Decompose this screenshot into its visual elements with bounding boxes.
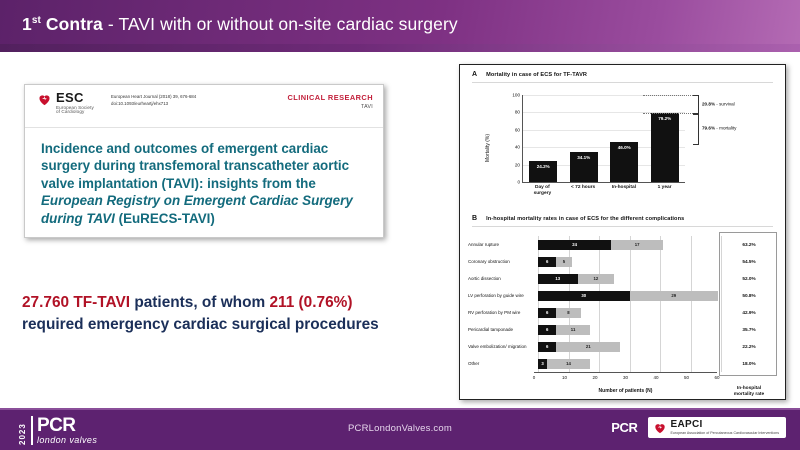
chart-b-segment-mortality: 30: [538, 291, 630, 301]
chart-b-category-label: Valve embolization/ migration: [468, 344, 538, 349]
chart-b-x-tick: 0: [533, 375, 536, 380]
chart-b-stacked-bar: 3029: [538, 291, 721, 301]
panel-b-divider: [472, 226, 773, 227]
chart-b-segment-survival: 8: [556, 308, 580, 318]
chart-a-category-label: In-hospital: [610, 185, 638, 207]
title-rest: - TAVI with or without on-site cardiac s…: [103, 14, 458, 34]
stat-patient-count: 27.760: [22, 294, 69, 311]
chart-b-gridline: [721, 236, 722, 253]
chart-b-segment-mortality: 6: [538, 308, 556, 318]
esc-society-name: European Society of Cardiology: [56, 106, 94, 116]
chart-b-segment-mortality: 6: [538, 257, 556, 267]
journal-card-header: ESC European Society of Cardiology Europ…: [25, 85, 383, 128]
stat-second-line: required emergency cardiac surgical proc…: [22, 316, 379, 333]
chart-a-bar-group: 34.1%: [570, 95, 598, 182]
chart-b-mortality-rate: 54.5%: [721, 259, 777, 264]
panel-b-header: B In-hospital mortality rates in case of…: [460, 207, 785, 222]
chart-b-x-tick: 50: [684, 375, 689, 380]
chart-b-gridline: [721, 253, 722, 270]
chart-b-bar-track: 3029: [538, 287, 721, 304]
article-title: Incidence and outcomes of emergent cardi…: [25, 128, 383, 227]
chart-a-bars: 24.2%34.1%46.0%79.2%: [523, 95, 685, 182]
esc-logo: ESC European Society of Cardiology: [37, 91, 94, 115]
chart-b-stacked-bar: 611: [538, 325, 721, 335]
title-ordinal-suffix: st: [32, 15, 41, 26]
section-sublabel-text: TAVI: [287, 104, 373, 110]
chart-b-category-label: Annular rupture: [468, 242, 538, 247]
chart-b-segment-value: 6: [546, 327, 548, 332]
title-keyword: Contra: [46, 14, 103, 34]
chart-b-rate-column-header: In-hospitalmortality rate: [721, 386, 777, 398]
chart-a-bar-value: 24.2%: [529, 164, 557, 169]
chart-b-category-label: Pericardial tamponade: [468, 327, 538, 332]
header-accent-band: [0, 44, 800, 52]
chart-b-x-tick: 10: [562, 375, 567, 380]
chart-b-segment-value: 24: [572, 242, 577, 247]
chart-b-segment-mortality: 6: [538, 342, 556, 352]
chart-b-row: Aortic dissection131252.0%: [468, 270, 777, 287]
chart-a-bar: 24.2%: [529, 161, 557, 182]
chart-b-rate-header-line: mortality rate: [721, 392, 777, 398]
pcr-logo-small: PCR: [611, 420, 637, 435]
chart-b-bar-track: 611: [538, 321, 721, 338]
key-statistic: 27.760 TF-TAVI patients, of whom 211 (0.…: [22, 292, 442, 336]
chart-b-segment-survival: 14: [547, 359, 590, 369]
chart-b-stacked-bar: 314: [538, 359, 721, 369]
logo-london-valves-text: london valves: [37, 436, 97, 445]
chart-b-row: Annular rupture241763.2%: [468, 236, 777, 253]
chart-a-y-tick: 40: [515, 145, 520, 150]
chart-b-segment-mortality: 13: [538, 274, 578, 284]
chart-a-x-axis-labels: Day of surgery< 72 hoursIn-hospital1 yea…: [522, 185, 685, 207]
chart-b-segment-survival: 29: [630, 291, 718, 301]
journal-section-label: CLINICAL RESEARCH TAVI: [287, 93, 373, 110]
slide: 1st Contra - TAVI with or without on-sit…: [0, 0, 800, 450]
chart-b-bar-track: 65: [538, 253, 721, 270]
chart-b-stacked-bar: 621: [538, 342, 721, 352]
chart-a-bracket: [693, 113, 699, 144]
chart-a-annotation-text: 79.6% - mortality: [702, 125, 736, 130]
section-label-text: CLINICAL RESEARCH: [287, 93, 373, 102]
article-title-part-0: Incidence and outcomes of emergent cardi…: [41, 141, 349, 191]
chart-b-row: Pericardial tamponade61135.7%: [468, 321, 777, 338]
chart-b-row: Valve embolization/ migration62122.2%: [468, 338, 777, 355]
esc-wordmark: ESC European Society of Cardiology: [56, 91, 94, 115]
chart-b-segment-survival: 21: [556, 342, 620, 352]
stat-cohort-label: TF-TAVI: [69, 294, 130, 311]
chart-b-segment-value: 30: [581, 293, 586, 298]
chart-b-x-axis-label: Number of patients (N): [534, 388, 717, 394]
chart-a-y-tick: 20: [515, 162, 520, 167]
chart-b-segment-mortality: 24: [538, 240, 611, 250]
chart-b-gridline: [721, 304, 722, 321]
chart-b-segment-value: 6: [546, 310, 548, 315]
eapci-logo: EAPCI European Association of Percutaneo…: [648, 417, 786, 438]
chart-a-y-axis-label: Mortality (%): [485, 134, 491, 162]
chart-b-gridline: [721, 338, 722, 355]
chart-b-segment-mortality: 3: [538, 359, 547, 369]
chart-b-axis: 0102030405060: [468, 372, 777, 386]
panel-a-header: A Mortality in case of ECS for TF-TAVR: [460, 65, 785, 78]
chart-a-bar-value: 79.2%: [651, 116, 679, 121]
chart-b-stacked-bar: 65: [538, 257, 721, 267]
chart-b-bar-track: 2417: [538, 236, 721, 253]
chart-a-leader-line: [643, 113, 693, 114]
chart-b-category-label: RV perforation by PM wire: [468, 310, 538, 315]
chart-a-y-tick: 80: [515, 110, 520, 115]
chart-b-segment-survival: 12: [578, 274, 615, 284]
citation-line-1: European Heart Journal (2018) 39, 676-68…: [111, 94, 196, 101]
chart-b-stacked-bar: 2417: [538, 240, 721, 250]
figure-panel: A Mortality in case of ECS for TF-TAVR M…: [459, 64, 786, 400]
chart-a-leader-line: [643, 95, 693, 96]
chart-a-annotations: 20.8% - survival79.6% - mortality: [683, 95, 775, 183]
chart-a-bar-group: 46.0%: [610, 95, 638, 182]
stat-event-percent: (0.76%): [294, 294, 352, 311]
chart-b-row: RV perforation by PM wire6842.9%: [468, 304, 777, 321]
chart-b-category-label: Coronary obstruction: [468, 259, 538, 264]
chart-b-row: LV perforation by guide wire302950.8%: [468, 287, 777, 304]
panel-a-caption: Mortality in case of ECS for TF-TAVR: [486, 72, 587, 78]
chart-a-category-label: < 72 hours: [569, 185, 597, 207]
chart-a-bar-value: 34.1%: [570, 155, 598, 160]
eapci-full-name: European Association of Percutaneous Car…: [671, 432, 779, 436]
journal-citation: European Heart Journal (2018) 39, 676-68…: [111, 94, 196, 107]
chart-b-mortality-rate: 42.9%: [721, 310, 777, 315]
title-ordinal: 1: [22, 14, 32, 34]
chart-panel-b: Annular rupture241763.2%Coronary obstruc…: [468, 232, 777, 390]
chart-b-stacked-bar: 1312: [538, 274, 721, 284]
chart-b-segment-value: 13: [555, 276, 560, 281]
chart-b-segment-value: 6: [546, 344, 548, 349]
chart-b-segment-value: 3: [541, 361, 543, 366]
stat-mid-text: patients, of whom: [130, 294, 269, 311]
chart-b-bar-track: 621: [538, 338, 721, 355]
chart-b-row: Other31418.0%: [468, 355, 777, 372]
chart-b-stacked-bar: 68: [538, 308, 721, 318]
chart-b-segment-value: 21: [586, 344, 591, 349]
chart-b-x-tick: 40: [653, 375, 658, 380]
chart-a-bar-group: 79.2%: [651, 95, 679, 182]
chart-b-segment-survival: 17: [611, 240, 663, 250]
journal-article-card: ESC European Society of Cardiology Europ…: [24, 84, 384, 238]
chart-b-x-tick: 30: [623, 375, 628, 380]
chart-b-segment-survival: 11: [556, 325, 590, 335]
chart-b-segment-value: 17: [635, 242, 640, 247]
chart-b-segment-survival: 5: [556, 257, 571, 267]
chart-b-category-label: LV perforation by guide wire: [468, 293, 538, 298]
esc-acronym: ESC: [56, 91, 94, 105]
chart-b-category-label: Other: [468, 361, 538, 366]
eapci-wordmark: EAPCI European Association of Percutaneo…: [671, 420, 779, 435]
panel-b-letter: B: [472, 215, 477, 222]
panel-b-caption: In-hospital mortality rates in case of E…: [486, 216, 684, 222]
chart-b-bar-track: 68: [538, 304, 721, 321]
chart-a-annotation-text: 20.8% - survival: [702, 102, 735, 107]
chart-b-segment-mortality: 6: [538, 325, 556, 335]
chart-b-rows: Annular rupture241763.2%Coronary obstruc…: [468, 236, 777, 372]
heart-icon: [653, 421, 667, 435]
chart-b-segment-value: 14: [566, 361, 571, 366]
slide-header: 1st Contra - TAVI with or without on-sit…: [0, 0, 800, 52]
chart-a-bracket: [693, 95, 699, 115]
chart-a-bar-group: 24.2%: [529, 95, 557, 182]
article-title-part-2: (EuRECS-TAVI): [115, 211, 215, 226]
eapci-acronym: EAPCI: [671, 420, 779, 431]
chart-a-y-tick: 0: [517, 180, 520, 185]
chart-b-bar-track: 1312: [538, 270, 721, 287]
chart-b-x-tick: 20: [592, 375, 597, 380]
footer-sponsor-logos: PCR EAPCI European Association of Percut…: [611, 417, 786, 438]
chart-b-mortality-rate: 52.0%: [721, 276, 777, 281]
chart-a-category-label: Day of surgery: [529, 185, 557, 207]
chart-b-gridline: [721, 287, 722, 304]
chart-b-mortality-rate: 35.7%: [721, 327, 777, 332]
chart-b-gridline: [721, 321, 722, 338]
heart-icon: [37, 92, 52, 107]
chart-b-mortality-rate: 18.0%: [721, 361, 777, 366]
chart-a-bar: 79.2%: [651, 113, 679, 182]
chart-b-gridline: [721, 270, 722, 287]
chart-b-segment-value: 5: [563, 259, 565, 264]
chart-a-bar: 34.1%: [570, 152, 598, 182]
page-title: 1st Contra - TAVI with or without on-sit…: [22, 14, 458, 35]
footer-accent-line: [0, 408, 800, 410]
panel-a-letter: A: [472, 71, 477, 78]
chart-b-segment-value: 8: [567, 310, 569, 315]
esc-society-line2: of Cardiology: [56, 110, 94, 115]
citation-line-2: doi:10.1093/eurheartj/ehx713: [111, 101, 196, 108]
chart-b-mortality-rate: 50.8%: [721, 293, 777, 298]
chart-a-y-tick: 100: [512, 93, 520, 98]
chart-a-category-label: 1 year: [651, 185, 679, 207]
chart-b-segment-value: 12: [594, 276, 599, 281]
chart-b-bar-track: 314: [538, 355, 721, 372]
slide-footer: 2023 PCR london valves PCRLondonValves.c…: [0, 408, 800, 450]
chart-b-category-label: Aortic dissection: [468, 276, 538, 281]
chart-b-mortality-rate: 22.2%: [721, 344, 777, 349]
chart-a-bar-value: 46.0%: [610, 145, 638, 150]
chart-a-bar: 46.0%: [610, 142, 638, 182]
chart-b-segment-value: 11: [571, 327, 576, 332]
chart-panel-a: Mortality (%) 02040608010024.2%34.1%46.0…: [468, 89, 777, 207]
chart-b-segment-value: 29: [671, 293, 676, 298]
panel-a-divider: [472, 82, 773, 83]
chart-b-gridline: [721, 355, 722, 372]
chart-a-plot-area: 02040608010024.2%34.1%46.0%79.2%: [522, 95, 685, 183]
chart-a-y-tick: 60: [515, 127, 520, 132]
chart-b-row: Coronary obstruction6554.5%: [468, 253, 777, 270]
chart-b-mortality-rate: 63.2%: [721, 242, 777, 247]
stat-event-count: 211: [269, 294, 294, 311]
chart-b-segment-value: 6: [546, 259, 548, 264]
chart-b-x-tick: 60: [714, 375, 719, 380]
